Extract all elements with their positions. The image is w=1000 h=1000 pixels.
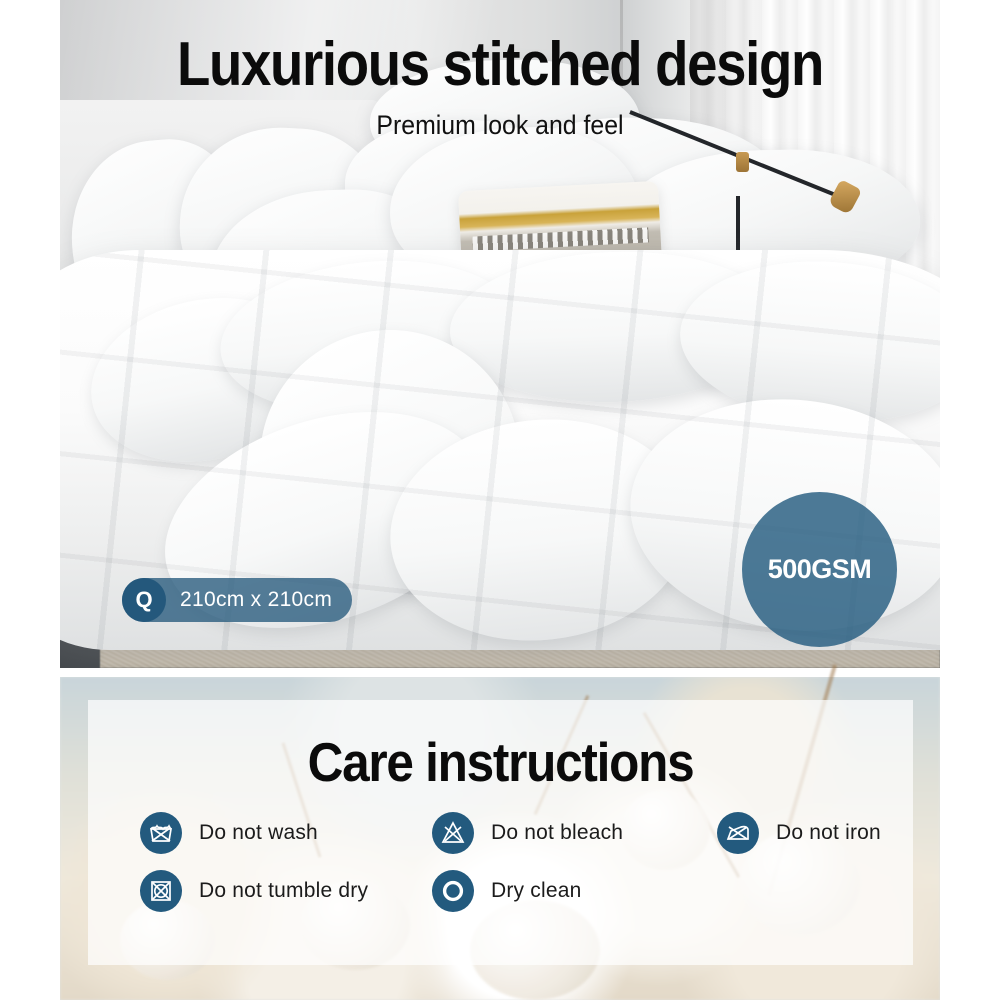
care-row: Do not wash Do not bleach bbox=[140, 812, 930, 854]
care-label: Dry clean bbox=[491, 879, 582, 903]
care-item-do-not-wash: Do not wash bbox=[140, 812, 432, 854]
care-title: Care instructions bbox=[129, 735, 872, 790]
care-items-grid: Do not wash Do not bleach bbox=[140, 812, 930, 928]
care-item-dry-clean: Dry clean bbox=[432, 870, 717, 912]
do-not-tumble-dry-icon bbox=[140, 870, 182, 912]
dry-clean-icon bbox=[432, 870, 474, 912]
size-code-circle: Q bbox=[122, 578, 166, 622]
lamp-joint bbox=[736, 152, 749, 172]
do-not-iron-icon bbox=[717, 812, 759, 854]
care-label: Do not iron bbox=[776, 821, 881, 845]
do-not-bleach-icon bbox=[432, 812, 474, 854]
care-item-do-not-iron: Do not iron bbox=[717, 812, 927, 854]
hero-headline: Luxurious stitched design bbox=[60, 34, 940, 96]
do-not-wash-icon bbox=[140, 812, 182, 854]
gsm-label: 500GSM bbox=[768, 554, 872, 585]
care-item-do-not-tumble-dry: Do not tumble dry bbox=[140, 870, 432, 912]
hero-subheadline: Premium look and feel bbox=[40, 112, 960, 139]
gsm-badge: 500GSM bbox=[742, 492, 897, 647]
care-label: Do not bleach bbox=[491, 821, 623, 845]
care-row: Do not tumble dry Dry clean bbox=[140, 870, 930, 912]
size-dimensions-label: 210cm x 210cm bbox=[166, 588, 352, 612]
care-item-do-not-bleach: Do not bleach bbox=[432, 812, 717, 854]
care-label: Do not tumble dry bbox=[199, 879, 368, 903]
size-badge: Q 210cm x 210cm bbox=[122, 578, 352, 622]
care-label: Do not wash bbox=[199, 821, 318, 845]
product-marketing-image: Luxurious stitched design Premium look a… bbox=[0, 0, 1000, 1000]
